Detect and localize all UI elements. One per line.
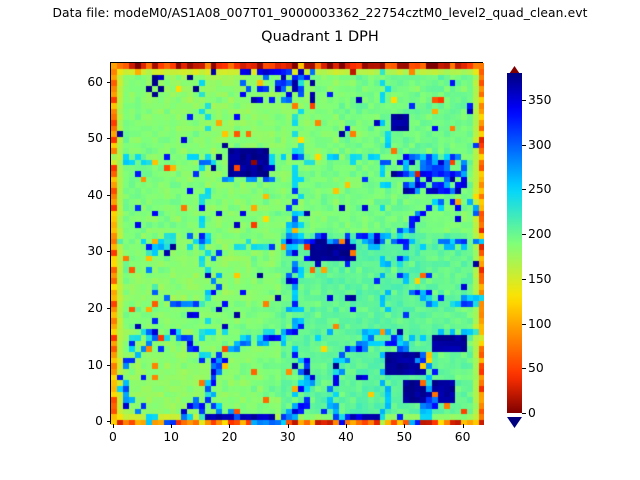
x-axis-tick	[463, 424, 464, 428]
colorbar-extend-top-arrow	[507, 62, 522, 73]
x-axis-tick-label: 10	[163, 430, 179, 444]
colorbar-tick	[522, 324, 526, 325]
x-axis-tick-label: 60	[455, 430, 471, 444]
colorbar-tick-label: 250	[528, 182, 551, 196]
plot-title: Quadrant 1 DPH	[0, 29, 640, 45]
heatmap-axes	[110, 62, 483, 424]
y-axis-tick-label: 30	[72, 244, 103, 258]
colorbar-tick-label: 200	[528, 227, 551, 241]
y-axis-tick-label: 20	[72, 301, 103, 315]
x-axis-tick-label: 0	[109, 430, 117, 444]
colorbar: 050100150200250300350	[507, 62, 522, 424]
colorbar-tick-label: 0	[528, 406, 536, 420]
y-axis-tick	[107, 365, 111, 366]
y-axis-tick	[107, 308, 111, 309]
x-axis-tick	[171, 424, 172, 428]
x-axis-tick	[346, 424, 347, 428]
y-axis-tick	[107, 195, 111, 196]
x-axis-tick-label: 40	[338, 430, 354, 444]
y-axis-tick	[107, 251, 111, 252]
detector-heatmap-image	[111, 63, 484, 425]
colorbar-tick	[522, 368, 526, 369]
colorbar-extend-bottom-arrow	[507, 413, 522, 424]
colorbar-tick-label: 350	[528, 93, 551, 107]
colorbar-tick	[522, 413, 526, 414]
y-axis-tick-label: 50	[72, 131, 103, 145]
x-axis-tick-label: 50	[396, 430, 412, 444]
colorbar-tick-label: 300	[528, 138, 551, 152]
y-axis-tick	[107, 421, 111, 422]
colorbar-tick-label: 150	[528, 272, 551, 286]
y-axis-tick-label: 40	[72, 188, 103, 202]
x-axis-tick	[288, 424, 289, 428]
y-axis-tick-label: 0	[72, 414, 103, 428]
y-axis-tick	[107, 138, 111, 139]
colorbar-tick-label: 100	[528, 317, 551, 331]
x-axis-tick-label: 30	[280, 430, 296, 444]
colorbar-tick	[522, 279, 526, 280]
colorbar-tick	[522, 100, 526, 101]
colorbar-tick	[522, 145, 526, 146]
figure-canvas: Data file: modeM0/AS1A08_007T01_90000033…	[0, 0, 640, 480]
x-axis-tick	[229, 424, 230, 428]
colorbar-tick-label: 50	[528, 361, 544, 375]
data-file-caption: Data file: modeM0/AS1A08_007T01_90000033…	[0, 6, 640, 20]
colorbar-gradient	[507, 73, 522, 413]
x-axis-tick	[113, 424, 114, 428]
x-axis-tick	[404, 424, 405, 428]
x-axis-tick-label: 20	[222, 430, 238, 444]
colorbar-tick	[522, 234, 526, 235]
y-axis-tick-label: 10	[72, 358, 103, 372]
y-axis-tick	[107, 82, 111, 83]
colorbar-tick	[522, 189, 526, 190]
y-axis-tick-label: 60	[72, 75, 103, 89]
